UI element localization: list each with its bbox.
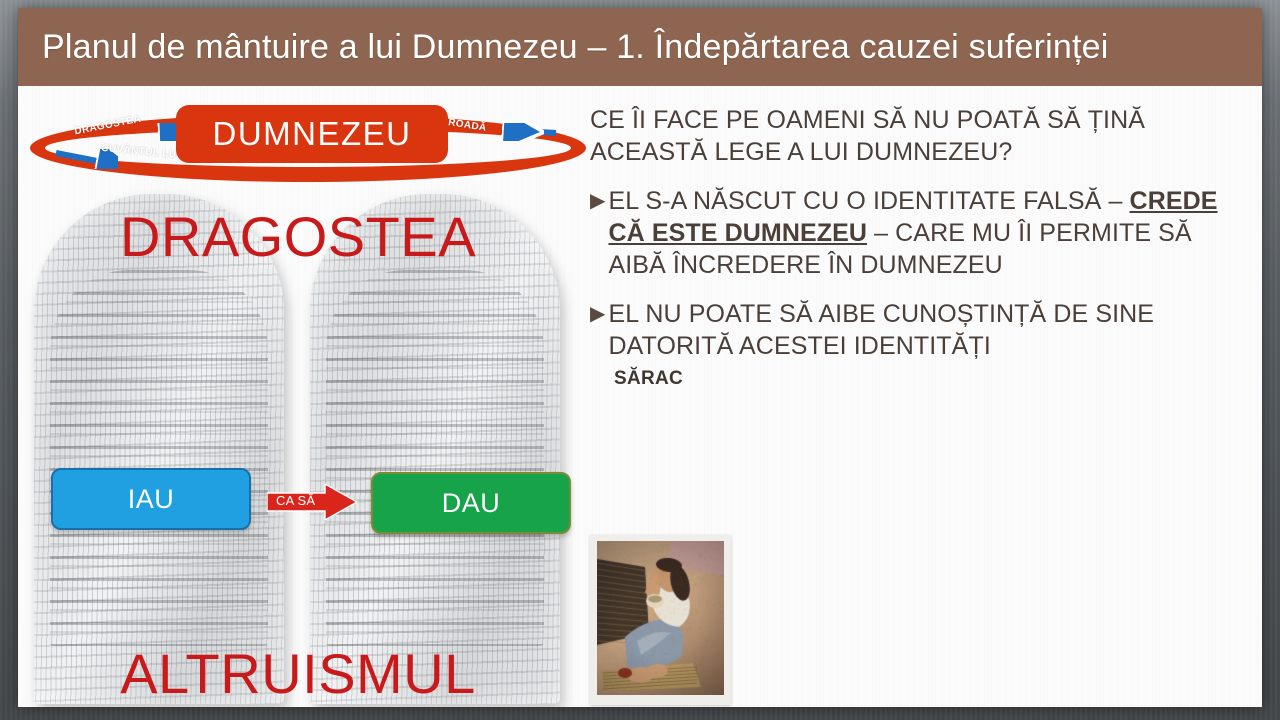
left-column: DRAGOSTEA ROADĂ CUVÂNTUL LUI DUMNEZEU DU… (18, 86, 578, 707)
flow-box-iau-label: IAU (128, 484, 175, 515)
tablets-bottom-label: ALTRUISMUL (18, 641, 578, 706)
bullet-triangle-icon: ▶ (590, 300, 605, 362)
cycle-diagram: DRAGOSTEA ROADĂ CUVÂNTUL LUI DUMNEZEU DU… (26, 100, 578, 192)
bullet-text: EL NU POATE SĂ AIBE CUNOȘTINȚĂ DE SINE D… (608, 298, 1250, 362)
arrow-to-roada-icon (494, 123, 560, 141)
photo-caption: SĂRAC (614, 368, 1250, 390)
tablet-engraving-lines (326, 270, 544, 646)
bullet-lead: EL S-A NĂSCUT CU O IDENTITATE FALSĂ – (608, 187, 1129, 215)
cycle-center-label: DUMNEZEU (213, 115, 412, 153)
page-title: Planul de mântuire a lui Dumnezeu – 1. Î… (18, 28, 1109, 67)
tablet-engraving-lines (50, 270, 268, 646)
bullet-item: ▶ EL NU POATE SĂ AIBE CUNOȘTINȚĂ DE SINE… (590, 298, 1250, 362)
flow-box-dau[interactable]: DAU (371, 472, 571, 534)
bullet-text: EL S-A NĂSCUT CU O IDENTITATE FALSĂ – CR… (608, 185, 1250, 281)
give-take-flow: IAU CA SĂ DAU (18, 468, 578, 538)
flow-box-iau[interactable]: IAU (51, 468, 251, 530)
stone-tablet-left (34, 194, 284, 704)
tablets-top-label: DRAGOSTEA (18, 204, 578, 269)
cycle-center-box: DUMNEZEU (176, 105, 448, 163)
bullet-triangle-icon: ▶ (590, 187, 605, 281)
poor-man-painting (590, 535, 731, 705)
desktop-backdrop: Planul de mântuire a lui Dumnezeu – 1. Î… (0, 0, 1280, 720)
bullet-lead: EL NU POATE SĂ AIBE CUNOȘTINȚĂ DE SINE D… (608, 300, 1154, 360)
presentation-slide: Planul de mântuire a lui Dumnezeu – 1. Î… (18, 8, 1262, 707)
stone-tablets-group (28, 194, 574, 704)
poor-man-painting-canvas (597, 541, 724, 695)
right-column: CE ÎI FACE PE OAMENI SĂ NU POATĂ SĂ ȚINĂ… (590, 104, 1250, 390)
bullet-item: ▶ EL S-A NĂSCUT CU O IDENTITATE FALSĂ – … (590, 185, 1250, 281)
question-text: CE ÎI FACE PE OAMENI SĂ NU POATĂ SĂ ȚINĂ… (590, 104, 1250, 168)
slide-title-bar: Planul de mântuire a lui Dumnezeu – 1. Î… (18, 8, 1262, 86)
flow-arrow-icon (267, 484, 357, 520)
stone-tablet-right (310, 194, 560, 704)
flow-box-dau-label: DAU (442, 488, 501, 519)
